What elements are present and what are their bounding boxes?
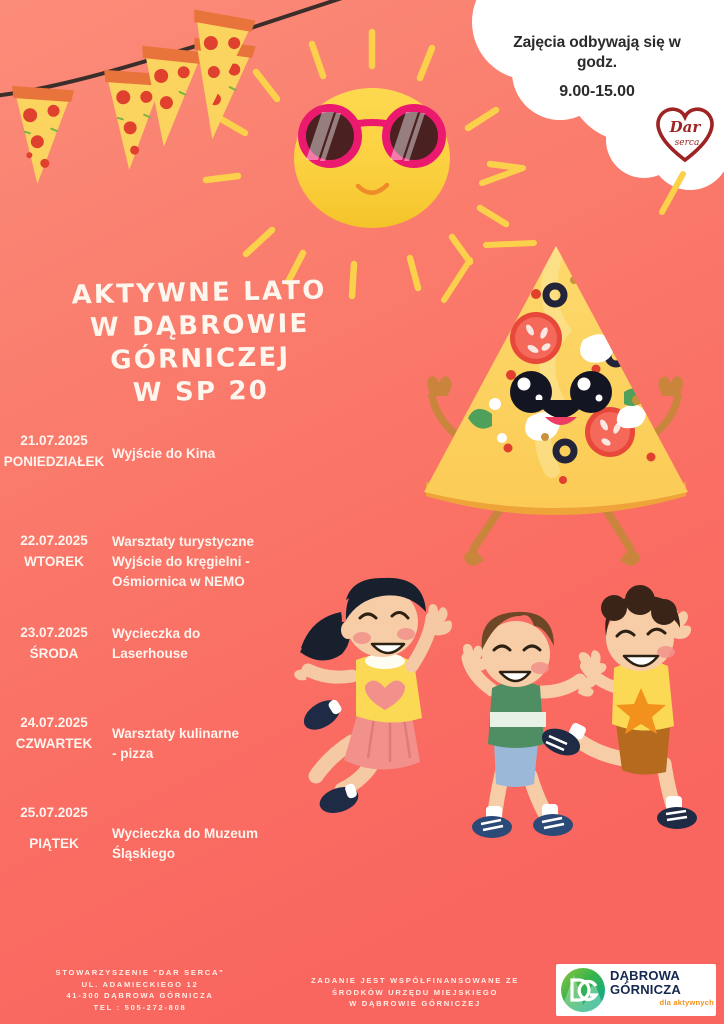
kid-boy-yellow-shirt <box>538 585 697 829</box>
poster-canvas: Dar serca Zajęcia odbywają się w godz. 9… <box>0 0 724 1024</box>
session-hours-label: Zajęcia odbywają się w godz. <box>492 33 702 73</box>
activity-line: Wyjście do kręgielni - <box>112 552 297 572</box>
funding-line: ZADANIE JEST WSPÓŁFINANSOWANE ZE <box>280 975 550 987</box>
date-value: 24.07.2025 <box>0 712 108 733</box>
dg-line-2: GÓRNICZA <box>610 983 714 997</box>
title-line-3: W SP 20 <box>1 372 402 413</box>
schedule-date: 21.07.2025 PONIEDZIAŁEK <box>0 430 108 472</box>
dg-line-1: DĄBROWA <box>610 969 714 983</box>
schedule-activity: Wyjście do Kina <box>112 444 297 464</box>
pizza-mascot <box>424 246 688 566</box>
org-phone: TEL : 505-272-808 <box>10 1002 270 1014</box>
activity-line: Wyjście do Kina <box>112 444 297 464</box>
kid-girl-jumping <box>294 578 452 818</box>
schedule-activity: Warsztaty kulinarne - pizza <box>112 724 297 764</box>
activity-line: Laserhouse <box>112 644 297 664</box>
schedule-date: 22.07.2025 WTOREK <box>0 530 108 572</box>
date-value: 23.07.2025 <box>0 622 108 643</box>
svg-text:Dar: Dar <box>669 118 702 136</box>
dg-monogram-icon <box>560 967 606 1013</box>
dabrowa-gornicza-logo: DĄBROWA GÓRNICZA dla aktywnych <box>556 964 716 1016</box>
date-value: 22.07.2025 <box>0 530 108 551</box>
org-city: 41-300 DĄBROWA GÓRNICZA <box>10 990 270 1002</box>
dg-wordmark: DĄBROWA GÓRNICZA dla aktywnych <box>610 969 714 1008</box>
schedule-date: 25.07.2025 PIĄTEK <box>0 802 108 854</box>
funding-note: ZADANIE JEST WSPÓŁFINANSOWANE ZE ŚRODKÓW… <box>280 975 550 1010</box>
funding-line: W DĄBROWIE GÓRNICZEJ <box>280 998 550 1010</box>
page-title: AKTYWNE LATO W DĄBROWIE GÓRNICZEJ W SP 2… <box>0 273 401 413</box>
organizer-address: STOWARZYSZENIE "DAR SERCA" UL. ADAMIECKI… <box>10 967 270 1013</box>
activity-line: Warsztaty turystyczne <box>112 532 297 552</box>
activity-line: Wycieczka do <box>112 624 297 644</box>
kid-boy-green-shirt <box>463 612 596 838</box>
schedule-activity: Warsztaty turystyczne Wyjście do kręgiel… <box>112 532 297 592</box>
sun-illustration <box>206 32 520 296</box>
schedule-date: 24.07.2025 CZWARTEK <box>0 712 108 754</box>
day-value: PONIEDZIAŁEK <box>0 451 108 472</box>
day-value: CZWARTEK <box>0 733 108 754</box>
activity-line: Wycieczka do Muzeum <box>112 824 297 844</box>
title-line-2: W DĄBROWIE GÓRNICZEJ <box>0 306 401 380</box>
funding-line: ŚRODKÓW URZĘDU MIEJSKIEGO <box>280 987 550 999</box>
org-street: UL. ADAMIECKIEGO 12 <box>10 979 270 991</box>
activity-line: Śląskiego <box>112 844 297 864</box>
activity-line: Warsztaty kulinarne <box>112 724 297 744</box>
pizza-bunting <box>0 0 342 186</box>
activity-line: - pizza <box>112 744 297 764</box>
schedule-activity: Wycieczka do Laserhouse <box>112 624 297 664</box>
day-value: PIĄTEK <box>0 833 108 854</box>
dg-tagline: dla aktywnych <box>610 998 714 1008</box>
org-name: STOWARZYSZENIE "DAR SERCA" <box>10 967 270 979</box>
date-value: 21.07.2025 <box>0 430 108 451</box>
svg-text:serca: serca <box>675 138 700 148</box>
activity-line: Ośmiornica w NEMO <box>112 572 297 592</box>
day-value: ŚRODA <box>0 643 108 664</box>
dar-serca-logo: Dar serca <box>658 109 712 160</box>
schedule-date: 23.07.2025 ŚRODA <box>0 622 108 664</box>
sunglasses-icon <box>302 108 442 164</box>
day-value: WTOREK <box>0 551 108 572</box>
schedule-activity: Wycieczka do Muzeum Śląskiego <box>112 824 297 864</box>
decorative-illustrations: Dar serca <box>0 0 724 1024</box>
mascot-face <box>510 371 612 425</box>
session-hours-value: 9.00-15.00 <box>492 82 702 102</box>
date-value: 25.07.2025 <box>0 802 108 823</box>
doodle-strokes <box>444 168 683 300</box>
